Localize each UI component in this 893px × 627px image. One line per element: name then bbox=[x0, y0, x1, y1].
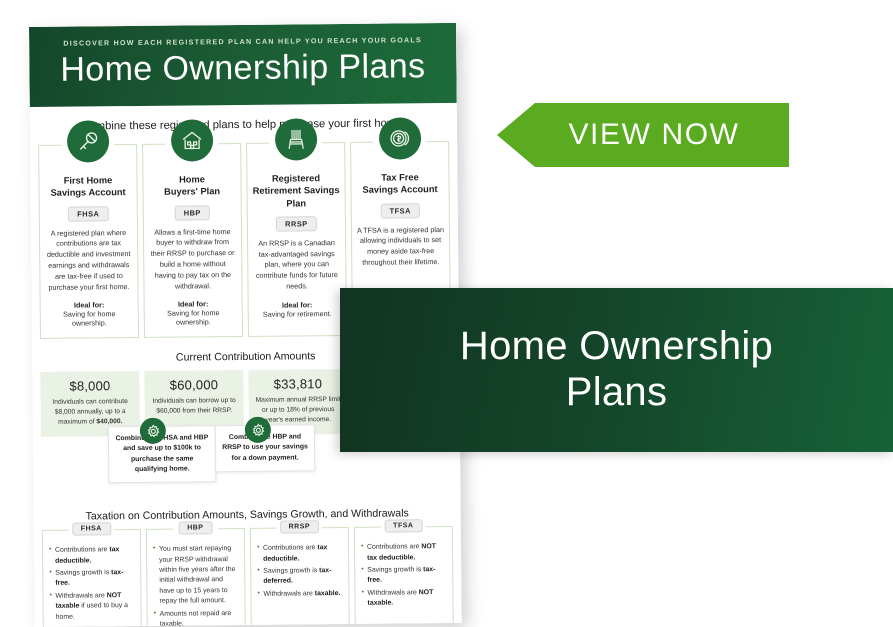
taxation-row: FHSA Contributions are tax deductible. S… bbox=[34, 526, 462, 627]
gear-icon bbox=[245, 417, 271, 443]
plan-name: Tax Free Savings Account bbox=[356, 171, 443, 196]
plan-description: A registered plan where contributions ar… bbox=[45, 228, 133, 294]
poster-header: DISCOVER HOW EACH REGISTERED PLAN CAN HE… bbox=[29, 23, 457, 107]
list-item: Amounts not repaid are taxable. bbox=[154, 609, 239, 627]
plan-name-line2: Savings Account bbox=[51, 187, 126, 198]
list-item: You must start repaying your RRSP withdr… bbox=[153, 544, 239, 608]
contribution-amount: $33,810 bbox=[254, 376, 341, 392]
view-now-label: VIEW NOW bbox=[568, 118, 739, 152]
bullet-bold: taxable. bbox=[315, 590, 341, 597]
list-item: Withdrawals are NOT taxable. bbox=[361, 588, 446, 610]
plan-name-line2: Buyers' Plan bbox=[164, 186, 220, 197]
bullet-pre: Savings growth is bbox=[367, 566, 423, 574]
taxation-bullet-list: Contributions are tax deductible. Saving… bbox=[49, 545, 135, 623]
overlay-title-line1: Home Ownership bbox=[460, 324, 773, 368]
plan-name-line1: Registered bbox=[272, 173, 320, 183]
taxation-bullet-list: You must start repaying your RRSP withdr… bbox=[153, 544, 239, 627]
plan-ideal-label bbox=[357, 276, 444, 277]
bullet-pre: Contributions are bbox=[263, 544, 317, 552]
plan-card-fhsa[interactable]: First Home Savings Account FHSA A regist… bbox=[38, 144, 139, 339]
chair-icon bbox=[274, 118, 316, 160]
plan-card-hbp[interactable]: Home Buyers' Plan HBP Allows a first-tim… bbox=[142, 143, 243, 338]
plan-description: Allows a first-time home buyer to withdr… bbox=[149, 227, 237, 293]
taxation-badge-rrsp: RRSP bbox=[280, 520, 320, 533]
plan-name-line2: Retirement Savings Plan bbox=[253, 185, 340, 208]
plan-card-rrsp[interactable]: Registered Retirement Savings Plan RRSP … bbox=[246, 142, 347, 337]
plan-ideal-text bbox=[357, 276, 444, 277]
list-item: Contributions are tax deductible. bbox=[49, 545, 134, 567]
taxation-badge-hbp: HBP bbox=[178, 521, 212, 534]
house-icon bbox=[170, 119, 212, 161]
taxation-badge-tfsa: TFSA bbox=[384, 519, 422, 532]
contribution-description: Individuals can contribute $8,000 annual… bbox=[47, 397, 134, 428]
plan-badge-tfsa: TFSA bbox=[381, 203, 420, 218]
plan-name-line2: Savings Account bbox=[362, 184, 437, 195]
contribution-amount: $60,000 bbox=[150, 377, 237, 393]
plan-description: An RRSP is a Canadian tax-advantaged sav… bbox=[253, 238, 341, 293]
contribution-description: Individuals can borrow up to $60,000 fro… bbox=[151, 396, 238, 417]
taxation-column-fhsa: FHSA Contributions are tax deductible. S… bbox=[42, 529, 142, 627]
taxation-column-hbp: HBP You must start repaying your RRSP wi… bbox=[146, 528, 246, 627]
view-now-button[interactable]: VIEW NOW bbox=[497, 103, 789, 167]
poster-kicker: DISCOVER HOW EACH REGISTERED PLAN CAN HE… bbox=[29, 36, 456, 48]
taxation-column-tfsa: TFSA Contributions are NOT tax deductibl… bbox=[354, 526, 454, 627]
list-item: Withdrawals are taxable. bbox=[257, 589, 342, 600]
plan-name-line1: Tax Free bbox=[381, 172, 419, 182]
bullet-pre: Savings growth is bbox=[263, 567, 319, 575]
taxation-column-rrsp: RRSP Contributions are tax deductible. S… bbox=[250, 527, 350, 627]
overlay-title-line2: Plans bbox=[566, 370, 668, 414]
bullet-pre: Withdrawals are bbox=[367, 589, 418, 596]
plan-description: A TFSA is a registered plan allowing ind… bbox=[357, 225, 444, 269]
plan-ideal-text: Saving for retirement. bbox=[254, 309, 341, 319]
list-item: Savings growth is tax-free. bbox=[361, 565, 446, 587]
plan-name: Registered Retirement Savings Plan bbox=[252, 172, 339, 210]
list-item: Contributions are NOT tax deductible. bbox=[361, 542, 446, 564]
list-item: Contributions are tax deductible. bbox=[257, 543, 342, 565]
plan-ideal-text: Saving for home ownership. bbox=[46, 309, 133, 328]
taxation-bullet-list: Contributions are tax deductible. Saving… bbox=[257, 543, 343, 600]
plan-name: First Home Savings Account bbox=[44, 174, 131, 199]
bullet-pre: Savings growth is bbox=[55, 569, 111, 577]
bullet-pre: Withdrawals are bbox=[263, 590, 314, 597]
poster-title: Home Ownership Plans bbox=[29, 49, 456, 89]
key-icon bbox=[66, 120, 108, 162]
plan-badge-rrsp: RRSP bbox=[276, 216, 317, 231]
list-item: Withdrawals are NOT taxable if used to b… bbox=[49, 591, 134, 623]
taxation-bullet-list: Contributions are NOT tax deductible. Sa… bbox=[361, 542, 447, 610]
list-item: Savings growth is tax-free. bbox=[49, 568, 134, 590]
plan-name-line1: First Home bbox=[64, 175, 113, 185]
contribution-amount: $8,000 bbox=[46, 378, 133, 394]
overlay-title: Home Ownership Plans bbox=[420, 324, 813, 415]
overlay-title-panel: Home Ownership Plans bbox=[340, 288, 893, 452]
bullet-pre: Withdrawals are bbox=[55, 592, 106, 599]
plan-badge-hbp: HBP bbox=[175, 205, 210, 220]
bullet-pre: Contributions are bbox=[367, 543, 421, 551]
plan-ideal-text: Saving for home ownership. bbox=[150, 308, 237, 327]
contribution-desc-bold: $40,000. bbox=[96, 418, 122, 425]
plan-name-line1: Home bbox=[179, 174, 205, 184]
gear-icon bbox=[140, 418, 166, 444]
plan-badge-fhsa: FHSA bbox=[68, 206, 108, 221]
list-item: Savings growth is tax-deferred. bbox=[257, 566, 342, 588]
taxation-badge-fhsa: FHSA bbox=[72, 522, 111, 535]
coin-dollar-icon bbox=[378, 117, 420, 159]
bullet-pre: Contributions are bbox=[55, 546, 109, 554]
plan-name: Home Buyers' Plan bbox=[148, 173, 235, 198]
